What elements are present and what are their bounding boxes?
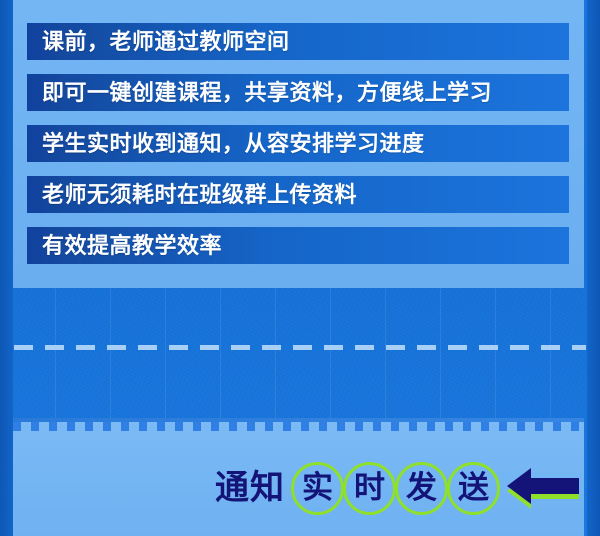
cta-circled-char-label: 时 [354, 472, 385, 503]
feature-bar-label: 课前，老师通过教师空间 [42, 31, 290, 53]
cta-circled-char-label: 送 [458, 472, 489, 503]
feature-bar-label: 即可一键创建课程，共享资料，方便线上学习 [42, 82, 492, 104]
cta-circled-char: 实 [291, 462, 344, 515]
left-edge-strip [0, 0, 13, 536]
feature-bar-label: 有效提高教学效率 [42, 235, 222, 257]
feature-bar-label: 老师无须耗时在班级群上传资料 [42, 184, 357, 206]
cta-line: 通知 实 时 发 送 [215, 455, 579, 521]
cta-circled-char: 时 [343, 462, 396, 515]
arrow-left-icon [507, 465, 579, 511]
promo-slide: 课前，老师通过教师空间 即可一键创建课程，共享资料，方便线上学习 学生实时收到通… [0, 0, 600, 536]
arrow-left-icon-body [507, 465, 579, 507]
feature-list-card: 课前，老师通过教师空间 即可一键创建课程，共享资料，方便线上学习 学生实时收到通… [13, 0, 584, 288]
feature-bar-list: 课前，老师通过教师空间 即可一键创建课程，共享资料，方便线上学习 学生实时收到通… [27, 23, 569, 264]
feature-bar: 即可一键创建课程，共享资料，方便线上学习 [27, 74, 569, 111]
cta-circled-char: 发 [395, 462, 448, 515]
feature-bar: 有效提高教学效率 [27, 227, 569, 264]
feature-bar: 学生实时收到通知，从容安排学习进度 [27, 125, 569, 162]
feature-bar-label: 学生实时收到通知，从容安排学习进度 [42, 133, 425, 155]
cta-circled-char: 送 [447, 462, 500, 515]
right-edge-strip [587, 0, 600, 536]
feature-bar: 课前，老师通过教师空间 [27, 23, 569, 60]
feature-bar: 老师无须耗时在班级群上传资料 [27, 176, 569, 213]
cta-card-perforation [13, 422, 584, 431]
cta-lead-text: 通知 [215, 471, 285, 505]
cta-circled-char-label: 实 [302, 472, 333, 503]
cta-circled-char-label: 发 [406, 472, 437, 503]
dashed-divider [14, 345, 586, 350]
